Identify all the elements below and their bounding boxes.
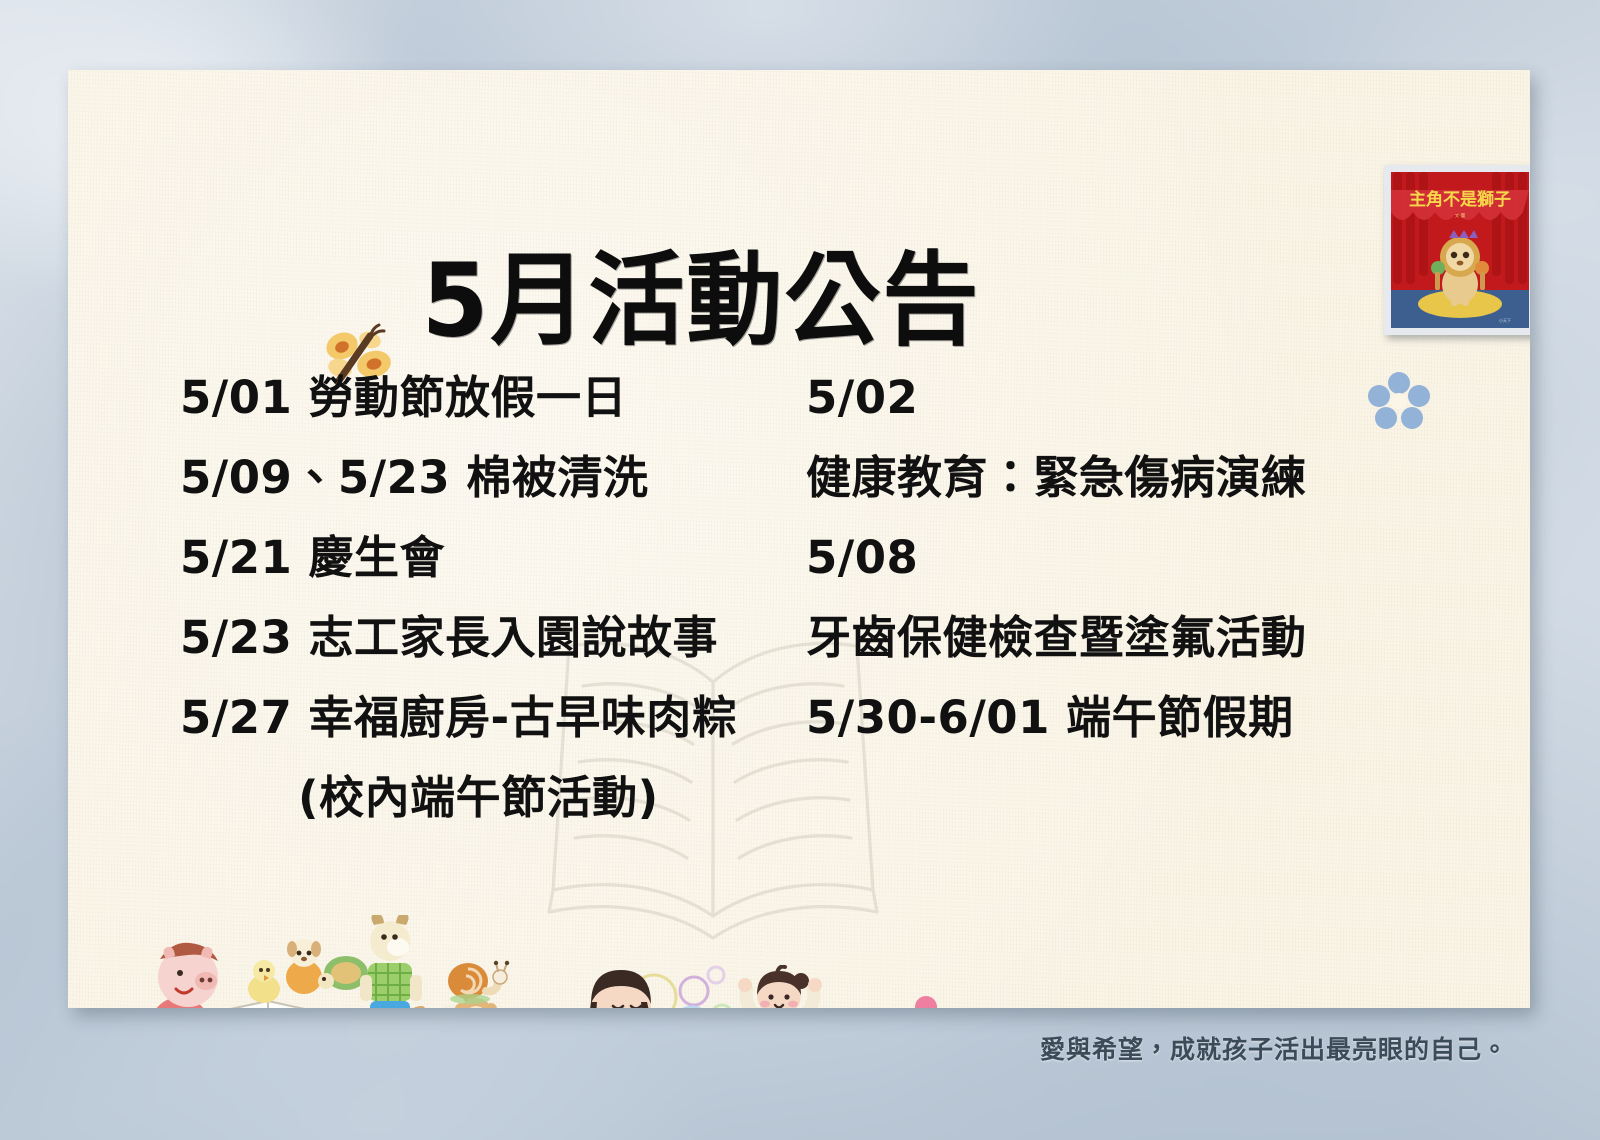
- announcement-line: 健康教育：緊急傷病演練: [806, 438, 1446, 518]
- page-title: 5月活動公告: [68, 218, 1432, 365]
- sparkle-icon: [1498, 1005, 1530, 1008]
- book-cover-art: 主角不是獅子 文‧圖 小天下: [1391, 172, 1529, 328]
- announcement-column-right: 5/02 健康教育：緊急傷病演練 5/08 牙齒保健檢查暨塗氟活動 5/30-6…: [806, 358, 1446, 758]
- announcement-line: 5/23 志工家長入園說故事: [180, 598, 820, 678]
- girl-blowing-bubbles: [573, 960, 723, 1008]
- announcement-line: 5/30-6/01 端午節假期: [806, 678, 1446, 758]
- announcement-line: 5/21 慶生會: [180, 518, 820, 598]
- announcement-column-left: 5/01 勞動節放假一日 5/09、5/23 棉被清洗 5/21 慶生會 5/2…: [180, 358, 820, 838]
- svg-text:文‧圖: 文‧圖: [1455, 212, 1466, 219]
- announcement-line: 5/01 勞動節放假一日: [180, 358, 820, 438]
- child-jumping: [723, 965, 838, 1008]
- announcement-columns: 5/01 勞動節放假一日 5/09、5/23 棉被清洗 5/21 慶生會 5/2…: [68, 70, 1530, 1008]
- announcement-line: 5/08: [806, 518, 1446, 598]
- announcement-line: 5/27 幸福廚房-古早味肉粽: [180, 678, 820, 758]
- announcement-line: (校內端午節活動): [180, 758, 820, 838]
- book-cover-thumbnail[interactable]: 主角不是獅子 文‧圖 小天下: [1384, 165, 1530, 335]
- poster-card: 5月活動公告: [68, 70, 1530, 1008]
- svg-text:小天下: 小天下: [1499, 317, 1511, 323]
- bubbles-decoration: [620, 963, 755, 1008]
- announcement-line: 5/02: [806, 358, 1446, 438]
- footer-tagline: 愛與希望，成就孩子活出最亮眼的自己。: [1040, 1030, 1508, 1066]
- announcement-line: 5/09、5/23 棉被清洗: [180, 438, 820, 518]
- announcement-line: 牙齒保健檢查暨塗氟活動: [806, 598, 1446, 678]
- flower-icon: [896, 995, 956, 1008]
- animals-reading-illustration: [136, 915, 536, 1008]
- book-cover-title: 主角不是獅子: [1409, 189, 1511, 210]
